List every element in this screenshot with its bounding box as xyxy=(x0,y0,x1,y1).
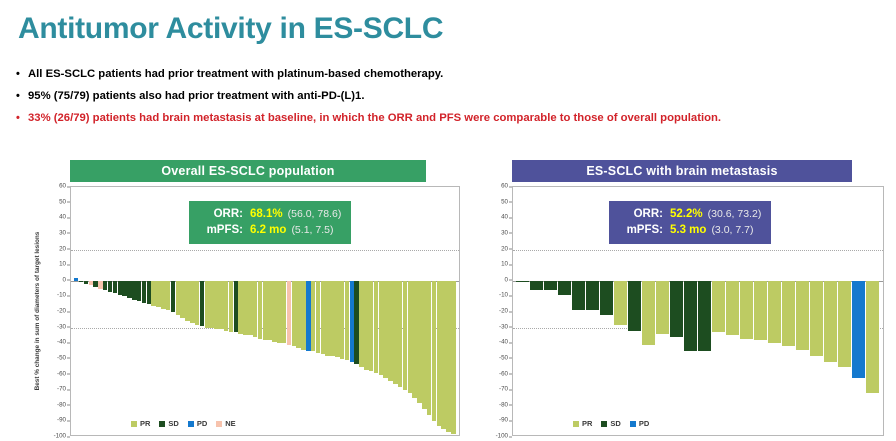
y-axis-tick: -40 xyxy=(499,339,508,346)
waterfall-bar xyxy=(684,281,697,351)
chart-overall: 6050403020100-10-20-30-40-50-60-70-80-90… xyxy=(26,186,466,436)
waterfall-bar xyxy=(558,281,571,295)
y-axis-tick: 60 xyxy=(501,183,508,190)
panel-overall-population: Overall ES-SCLC population 6050403020100… xyxy=(26,160,466,436)
waterfall-bar xyxy=(147,281,151,304)
legend-brainmet: PRSDPD xyxy=(573,419,649,428)
waterfall-bar xyxy=(272,281,276,342)
legend-item-sd: SD xyxy=(159,419,178,428)
waterfall-bar xyxy=(267,281,271,340)
stat-mpfs-ci: (5.1, 7.5) xyxy=(291,222,333,238)
bullet-item: •95% (75/79) patients also had prior tre… xyxy=(16,90,882,103)
waterfall-bar xyxy=(417,281,421,403)
waterfall-bar xyxy=(383,281,387,378)
panel-overall-header: Overall ES-SCLC population xyxy=(70,160,426,182)
waterfall-bar xyxy=(79,281,83,283)
y-axis-tick: -20 xyxy=(57,308,66,315)
waterfall-bar xyxy=(93,281,97,287)
legend-label: SD xyxy=(610,419,620,428)
waterfall-bar xyxy=(287,281,291,345)
waterfall-bar xyxy=(412,281,416,398)
waterfall-bar xyxy=(600,281,613,315)
y-axis-tick: -10 xyxy=(499,292,508,299)
waterfall-bar xyxy=(311,281,315,351)
bullet-text: 95% (75/79) patients also had prior trea… xyxy=(28,90,882,103)
waterfall-bar xyxy=(166,281,170,311)
waterfall-bar xyxy=(200,281,204,326)
y-axis-tick: 60 xyxy=(59,183,66,190)
waterfall-bar xyxy=(321,281,325,354)
stat-orr-row-overall: ORR: 68.1% (56.0, 78.6) xyxy=(199,206,341,222)
y-axis-tick: -50 xyxy=(57,354,66,361)
waterfall-bar xyxy=(369,281,373,372)
legend-label: PR xyxy=(140,419,150,428)
waterfall-bar xyxy=(530,281,543,290)
waterfall-bar xyxy=(614,281,627,325)
panel-brain-metastasis: ES-SCLC with brain metastasis 6050403020… xyxy=(466,160,890,436)
legend-item-pr: PR xyxy=(573,419,592,428)
legend-swatch-icon xyxy=(216,421,222,427)
waterfall-bar xyxy=(84,281,88,284)
legend-label: NE xyxy=(225,419,235,428)
waterfall-bar xyxy=(379,281,383,375)
waterfall-bar xyxy=(393,281,397,384)
waterfall-bar xyxy=(364,281,368,370)
waterfall-bar xyxy=(698,281,711,351)
page-title: Antitumor Activity in ES-SCLC xyxy=(18,12,443,46)
waterfall-bar xyxy=(219,281,223,329)
waterfall-bar xyxy=(195,281,199,325)
y-axis-tick: -30 xyxy=(57,323,66,330)
waterfall-bar xyxy=(108,281,112,292)
waterfall-bar xyxy=(98,281,102,289)
waterfall-bar xyxy=(437,281,441,426)
waterfall-bar xyxy=(432,281,436,422)
stat-mpfs-ci: (3.0, 7.7) xyxy=(711,222,753,238)
waterfall-bar xyxy=(359,281,363,367)
stat-mpfs-row-brainmet: mPFS: 5.3 mo (3.0, 7.7) xyxy=(619,222,761,238)
y-axis-tick: 10 xyxy=(59,261,66,268)
waterfall-bar xyxy=(243,281,247,336)
y-axis-tick: -10 xyxy=(57,292,66,299)
legend-label: PR xyxy=(582,419,592,428)
stat-orr-value: 52.2% xyxy=(670,206,703,222)
waterfall-bar xyxy=(544,281,557,290)
stat-box-overall: ORR: 68.1% (56.0, 78.6) mPFS: 6.2 mo (5.… xyxy=(189,201,351,244)
y-axis-tick: 0 xyxy=(63,276,66,283)
stat-box-brainmet: ORR: 52.2% (30.6, 73.2) mPFS: 5.3 mo (3.… xyxy=(609,201,771,244)
waterfall-bar xyxy=(441,281,445,429)
waterfall-bar xyxy=(335,281,339,358)
bullet-marker: • xyxy=(16,90,28,103)
waterfall-bar xyxy=(712,281,725,333)
legend-item-sd: SD xyxy=(601,419,620,428)
legend-swatch-icon xyxy=(601,421,607,427)
stat-mpfs-value: 6.2 mo xyxy=(250,222,286,238)
y-axis-tick: -70 xyxy=(57,386,66,393)
waterfall-bar xyxy=(127,281,131,298)
waterfall-bar xyxy=(214,281,218,329)
y-axis-tick: 30 xyxy=(501,229,508,236)
bullet-item: •33% (26/79) patients had brain metastas… xyxy=(16,112,882,125)
stat-orr-ci: (30.6, 73.2) xyxy=(708,206,762,222)
waterfall-bar xyxy=(866,281,879,394)
waterfall-bar xyxy=(180,281,184,319)
waterfall-bar xyxy=(238,281,242,334)
bullet-list: •All ES-SCLC patients had prior treatmen… xyxy=(16,68,882,134)
waterfall-bar xyxy=(427,281,431,415)
waterfall-bar xyxy=(74,278,78,281)
waterfall-bar xyxy=(171,281,175,312)
waterfall-bar xyxy=(142,281,146,303)
plot-frame-brainmet: ORR: 52.2% (30.6, 73.2) mPFS: 5.3 mo (3.… xyxy=(512,186,884,436)
waterfall-bar xyxy=(185,281,189,322)
waterfall-bar xyxy=(403,281,407,390)
waterfall-bar xyxy=(316,281,320,353)
y-axis-tick: -30 xyxy=(499,323,508,330)
stat-orr-label: ORR: xyxy=(619,206,663,222)
y-axis-tick: -100 xyxy=(496,433,508,440)
waterfall-bar xyxy=(205,281,209,328)
waterfall-bar xyxy=(451,281,455,434)
waterfall-bar xyxy=(345,281,349,361)
legend-swatch-icon xyxy=(188,421,194,427)
y-axis-tick: 30 xyxy=(59,229,66,236)
waterfall-bar xyxy=(248,281,252,336)
waterfall-bar xyxy=(253,281,257,337)
waterfall-bar xyxy=(330,281,334,356)
waterfall-bar xyxy=(292,281,296,347)
legend-label: PD xyxy=(639,419,649,428)
stat-orr-value: 68.1% xyxy=(250,206,283,222)
waterfall-bar xyxy=(277,281,281,344)
waterfall-bar xyxy=(824,281,837,362)
y-axis-tick: -70 xyxy=(499,386,508,393)
bullet-text: All ES-SCLC patients had prior treatment… xyxy=(28,68,882,81)
waterfall-bar xyxy=(656,281,669,334)
waterfall-bar xyxy=(234,281,238,333)
legend-item-pr: PR xyxy=(131,419,150,428)
y-axis-tick: 50 xyxy=(59,198,66,205)
y-axis-brainmet: 6050403020100-10-20-30-40-50-60-70-80-90… xyxy=(468,186,512,436)
y-axis-tick: 50 xyxy=(501,198,508,205)
bullet-marker: • xyxy=(16,112,28,125)
waterfall-bar xyxy=(586,281,599,311)
waterfall-bar xyxy=(852,281,865,378)
waterfall-bar xyxy=(190,281,194,323)
y-axis-tick: -90 xyxy=(499,417,508,424)
waterfall-bar xyxy=(670,281,683,337)
plot-frame-overall: ORR: 68.1% (56.0, 78.6) mPFS: 6.2 mo (5.… xyxy=(70,186,460,436)
y-axis-tick: -80 xyxy=(57,401,66,408)
legend-swatch-icon xyxy=(131,421,137,427)
y-axis-tick: 40 xyxy=(59,214,66,221)
legend-item-pd: PD xyxy=(188,419,207,428)
waterfall-bar xyxy=(118,281,122,295)
waterfall-bar xyxy=(132,281,136,300)
y-axis-tick: -60 xyxy=(499,370,508,377)
legend-swatch-icon xyxy=(573,421,579,427)
waterfall-bar xyxy=(572,281,585,311)
stat-orr-row-brainmet: ORR: 52.2% (30.6, 73.2) xyxy=(619,206,761,222)
bullet-item: •All ES-SCLC patients had prior treatmen… xyxy=(16,68,882,81)
legend-label: PD xyxy=(197,419,207,428)
y-axis-tick: -40 xyxy=(57,339,66,346)
bullet-marker: • xyxy=(16,68,28,81)
waterfall-bar xyxy=(628,281,641,331)
waterfall-bar xyxy=(388,281,392,381)
waterfall-bar xyxy=(754,281,767,340)
y-axis-tick: 40 xyxy=(501,214,508,221)
y-axis-tick: -20 xyxy=(499,308,508,315)
waterfall-bar xyxy=(782,281,795,347)
y-axis-tick: 10 xyxy=(501,261,508,268)
waterfall-bar xyxy=(301,281,305,350)
legend-item-pd: PD xyxy=(630,419,649,428)
stat-orr-ci: (56.0, 78.6) xyxy=(288,206,342,222)
waterfall-bar xyxy=(224,281,228,331)
legend-item-ne: NE xyxy=(216,419,235,428)
waterfall-bar xyxy=(306,281,310,351)
waterfall-bar xyxy=(325,281,329,356)
y-axis-tick: 20 xyxy=(59,245,66,252)
waterfall-bar xyxy=(422,281,426,409)
y-axis-tick: -80 xyxy=(499,401,508,408)
waterfall-bar xyxy=(350,281,354,362)
waterfall-bar xyxy=(446,281,450,433)
y-axis-tick: -90 xyxy=(57,417,66,424)
bullet-text: 33% (26/79) patients had brain metastasi… xyxy=(28,112,882,125)
stat-orr-label: ORR: xyxy=(199,206,243,222)
y-axis-overall: 6050403020100-10-20-30-40-50-60-70-80-90… xyxy=(26,186,70,436)
waterfall-bar xyxy=(103,281,107,290)
waterfall-bar xyxy=(354,281,358,364)
waterfall-bar xyxy=(810,281,823,356)
waterfall-bar xyxy=(398,281,402,387)
waterfall-bar xyxy=(796,281,809,350)
y-axis-tick: -60 xyxy=(57,370,66,377)
y-axis-title-overall: Best % change in sum of diameters of tar… xyxy=(34,211,42,411)
y-axis-tick: -50 xyxy=(499,354,508,361)
stat-mpfs-label: mPFS: xyxy=(199,222,243,238)
y-axis-tick: -100 xyxy=(54,433,66,440)
waterfall-bar xyxy=(340,281,344,359)
waterfall-bar xyxy=(516,281,529,283)
stat-mpfs-row-overall: mPFS: 6.2 mo (5.1, 7.5) xyxy=(199,222,341,238)
waterfall-bar xyxy=(258,281,262,339)
waterfall-bar xyxy=(209,281,213,328)
waterfall-bar xyxy=(137,281,141,301)
legend-overall: PRSDPDNE xyxy=(131,419,236,428)
y-axis-tick: 20 xyxy=(501,245,508,252)
waterfall-bar xyxy=(113,281,117,294)
waterfall-bar xyxy=(176,281,180,315)
legend-swatch-icon xyxy=(159,421,165,427)
waterfall-bar xyxy=(296,281,300,348)
panel-brainmet-header: ES-SCLC with brain metastasis xyxy=(512,160,852,182)
waterfall-bar xyxy=(89,281,93,286)
waterfall-bar xyxy=(408,281,412,394)
waterfall-bar xyxy=(740,281,753,339)
waterfall-bar xyxy=(122,281,126,297)
waterfall-bar xyxy=(263,281,267,340)
waterfall-bar xyxy=(726,281,739,336)
legend-label: SD xyxy=(168,419,178,428)
waterfall-bar xyxy=(161,281,165,309)
waterfall-bar xyxy=(156,281,160,308)
waterfall-bar xyxy=(374,281,378,373)
y-axis-tick: 0 xyxy=(505,276,508,283)
waterfall-bar xyxy=(151,281,155,306)
chart-brainmet: 6050403020100-10-20-30-40-50-60-70-80-90… xyxy=(466,186,890,436)
stat-mpfs-label: mPFS: xyxy=(619,222,663,238)
waterfall-bar xyxy=(768,281,781,344)
legend-swatch-icon xyxy=(630,421,636,427)
stat-mpfs-value: 5.3 mo xyxy=(670,222,706,238)
waterfall-bar xyxy=(229,281,233,333)
waterfall-bar xyxy=(642,281,655,345)
waterfall-bar xyxy=(282,281,286,344)
waterfall-bar xyxy=(838,281,851,367)
